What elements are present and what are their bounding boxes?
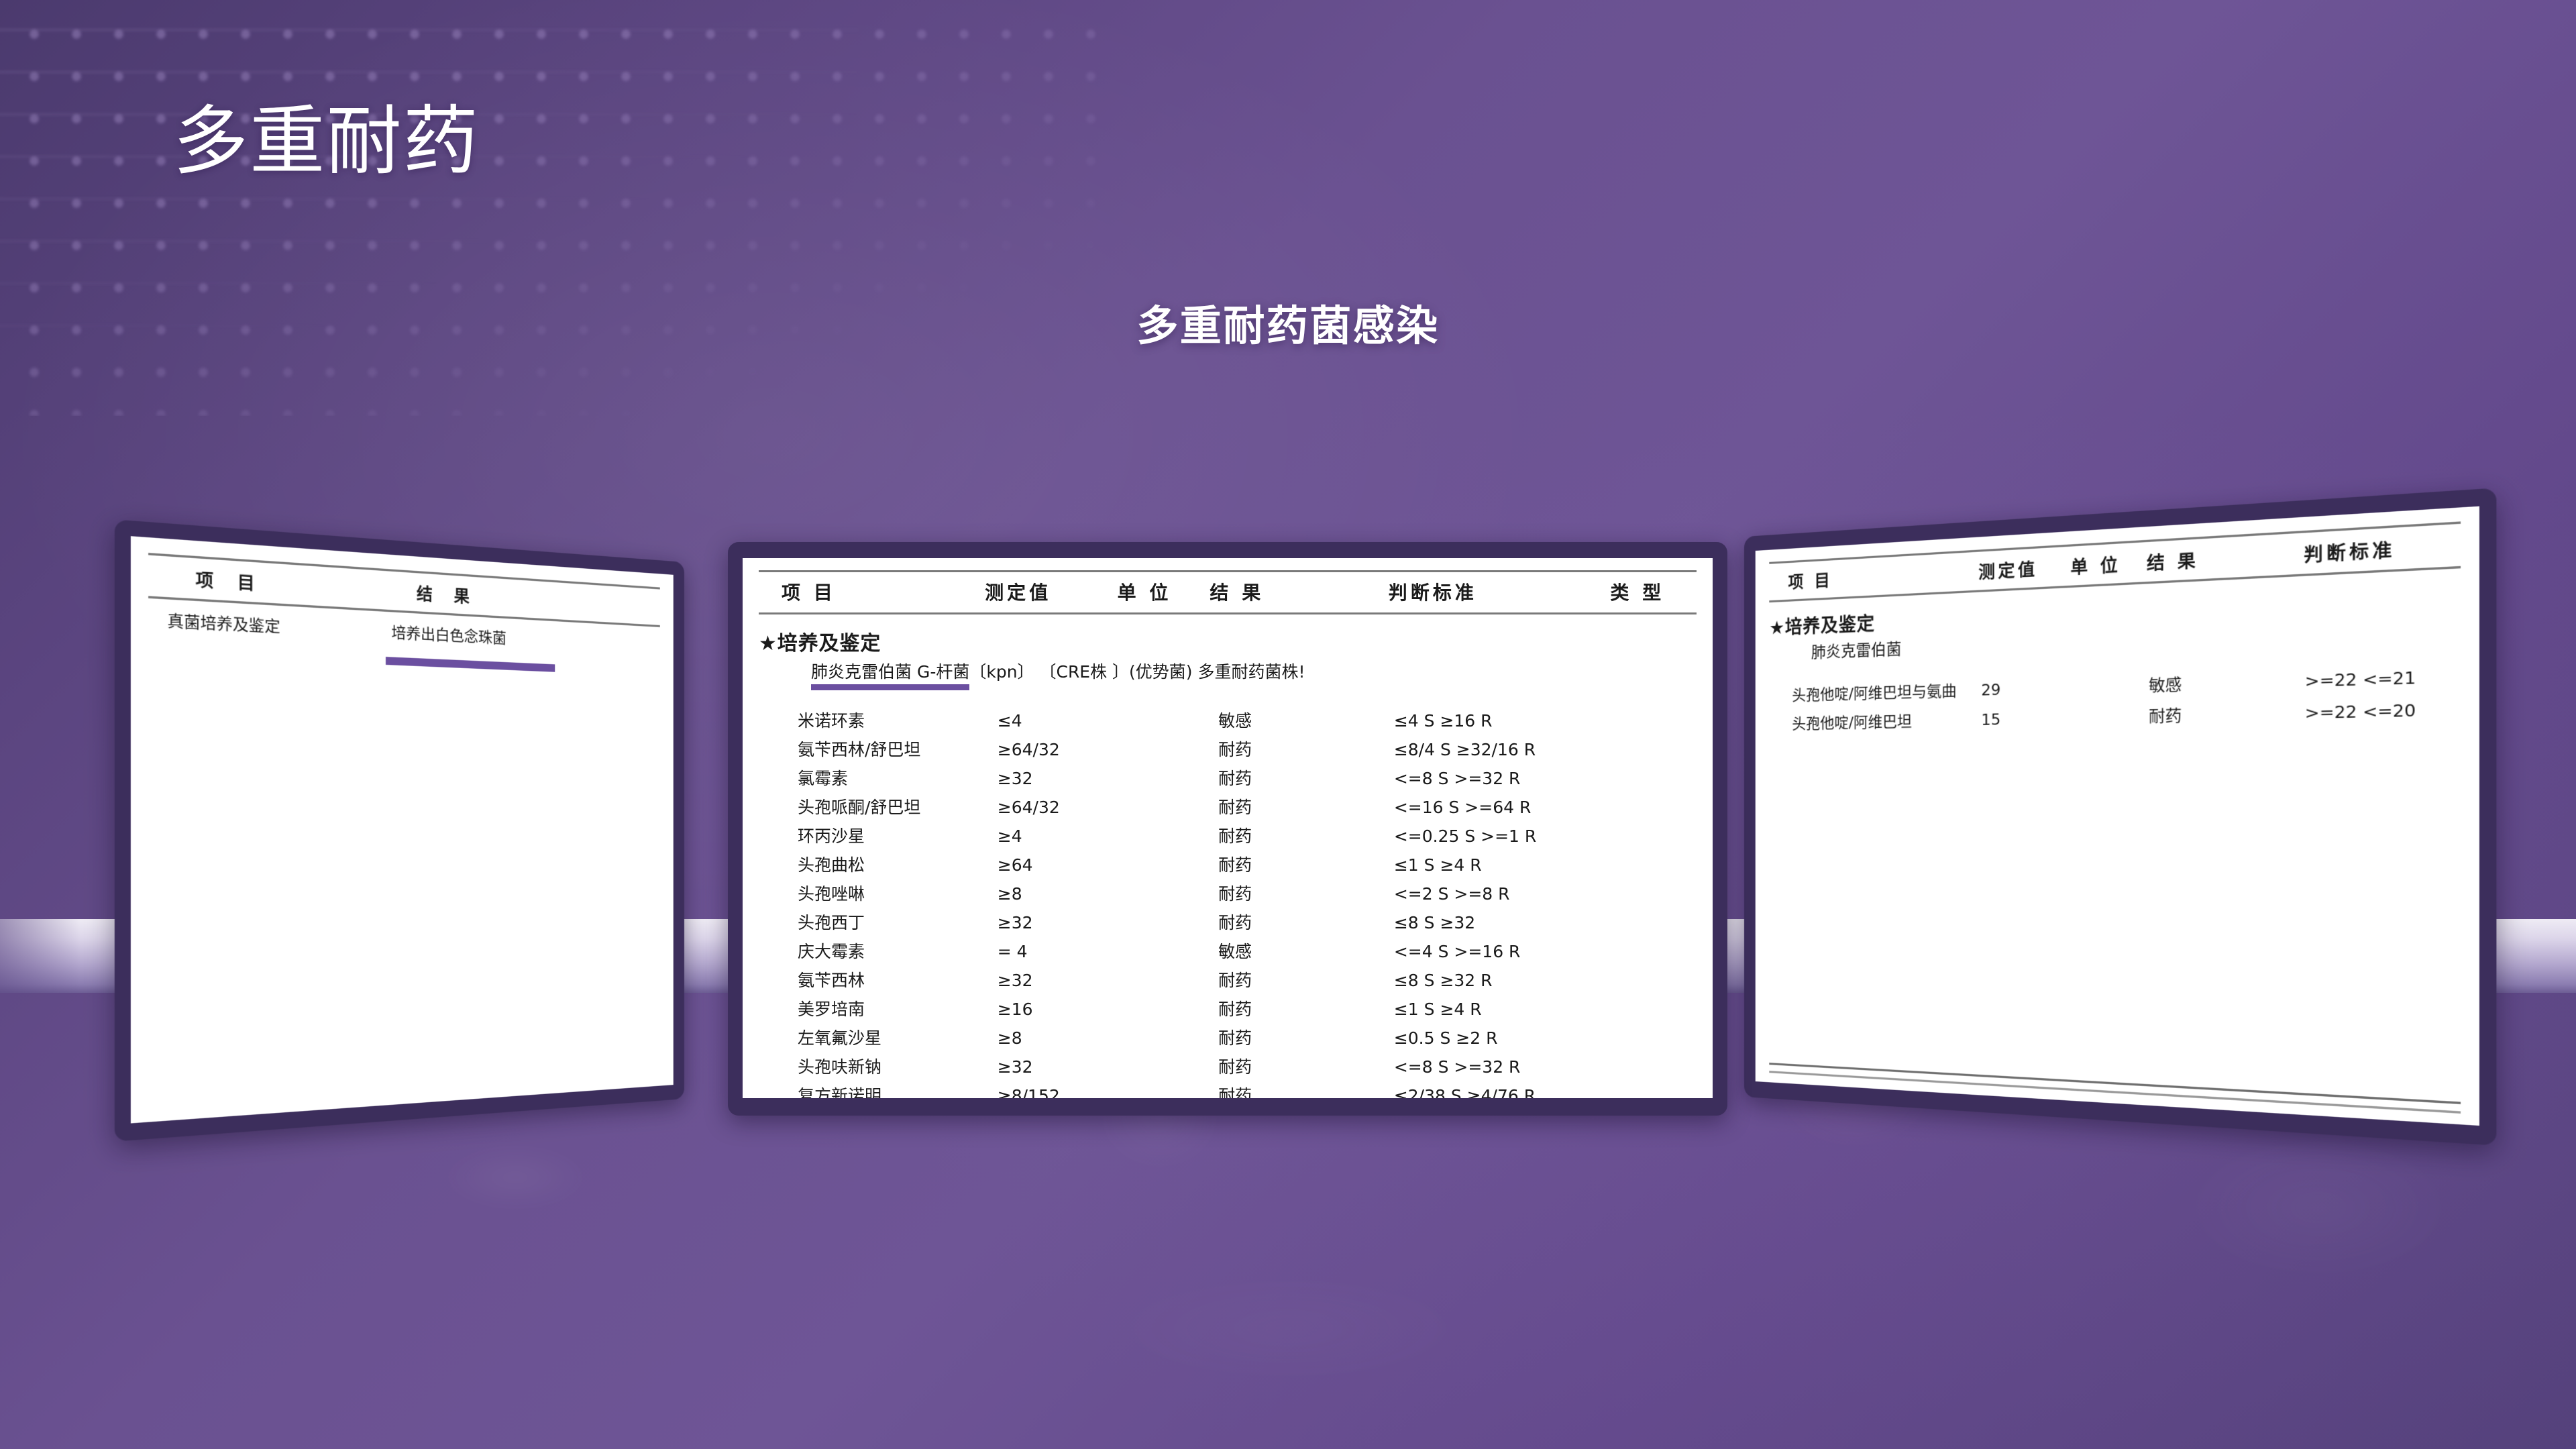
cell-criteria: <=8 S >=32 R [1394,1057,1612,1077]
cell-criteria: ≤8/4 S ≥32/16 R [1394,740,1612,759]
table-row: 氯霉素≥32耐药<=8 S >=32 R [798,765,1697,794]
cell-criteria: ≤1 S ≥4 R [1394,855,1612,875]
column-header-item: 项 目 [782,578,985,605]
slide-canvas: 多重耐药 多重耐药菌感染 项 目 结 果 真菌培养及鉴定培养出白色念珠菌 项 目… [0,0,2576,1449]
column-header-value: 测定值 [985,578,1117,605]
table-row: 米诺环素≤4敏感≤4 S ≥16 R [798,708,1697,737]
cell-result: 耐药 [1218,852,1394,876]
report-sheet-center: 项 目 测定值 单 位 结 果 判断标准 类 型 ★培养及鉴定 肺炎克雷伯菌 G… [743,558,1713,1098]
cell-item: 真菌培养及鉴定 [168,608,392,643]
cell-value: ≥64 [998,855,1128,875]
table-header-row-center: 项 目 测定值 单 位 结 果 判断标准 类 型 [759,570,1697,614]
column-header-value: 测定值 [1978,553,2070,583]
cell-result: 耐药 [1218,1083,1394,1098]
cell-value: ≥32 [998,1057,1128,1077]
cell-criteria: <=4 S >=16 R [1394,942,1612,961]
cell-value: ≥8 [998,1028,1128,1048]
cell-value: ≥4 [998,826,1128,846]
cell-result: 耐药 [1218,1054,1394,1078]
cell-item: 头孢哌酮/舒巴坦 [798,794,998,818]
cell-criteria: >=22 <=21 [2305,667,2461,691]
cell-unit [2073,691,2149,693]
column-header-type: 类 型 [1610,578,1697,605]
cell-item: 头孢曲松 [798,852,998,876]
cell-value: ≥32 [998,913,1128,932]
cell-item: 头孢唑啉 [798,881,998,905]
cell-unit [2073,722,2149,723]
table-body-center: 米诺环素≤4敏感≤4 S ≥16 R氨苄西林/舒巴坦≥64/32耐药≤8/4 S… [759,708,1697,1098]
cell-criteria: ≤1 S ≥4 R [1394,1000,1612,1019]
section-title-culture: ★培养及鉴定 [759,627,1697,656]
cell-item: 氨苄西林 [798,967,998,991]
sheet-footer-rule [1769,1063,2461,1104]
cell-criteria: ≤0.5 S ≥2 R [1394,1028,1612,1048]
background-band-fade [0,919,80,993]
cell-result: 培养出白色念珠菌 [391,621,617,653]
cell-value: ≥8 [998,884,1128,904]
column-header-result: 结 果 [2147,540,2304,575]
cell-item: 氨苄西林/舒巴坦 [798,737,998,761]
cell-item: 头孢他啶/阿维巴坦 [1792,708,1981,734]
cell-value: ≥16 [998,1000,1128,1019]
cell-result: 耐药 [1218,737,1394,761]
cell-result: 耐药 [1218,967,1394,991]
cell-value: ≥64/32 [998,798,1128,817]
cell-result: 敏感 [1218,708,1394,732]
cell-criteria: <=8 S >=32 R [1394,769,1612,788]
table-row: 复方新诺明≥8/152耐药≤2/38 S ≥4/76 R [798,1083,1697,1098]
cell-result: 敏感 [1218,938,1394,963]
cell-item: 复方新诺明 [798,1083,998,1098]
cell-item: 庆大霉素 [798,938,998,963]
column-header-result: 结 果 [1210,578,1388,605]
table-row: 美罗培南≥16耐药≤1 S ≥4 R [798,996,1697,1025]
cell-item: 氯霉素 [798,765,998,790]
column-header-item: 项 目 [1788,558,1979,592]
cell-value: ≥8/152 [998,1086,1128,1098]
table-body-right: 头孢他啶/阿维巴坦与氨曲29敏感>=22 <=21头孢他啶/阿维巴坦15耐药>=… [1769,663,2461,741]
organism-annotation: 〔kpn〕 〔CRE株 〕(优势菌) 多重耐药菌株! [969,662,1305,682]
sheet-footer-rule-secondary [1769,1071,2461,1114]
cell-value: ≥32 [998,971,1128,990]
cell-criteria: <=16 S >=64 R [1394,798,1612,817]
table-row: 氨苄西林/舒巴坦≥64/32耐药≤8/4 S ≥32/16 R [798,737,1697,765]
cell-result: 耐药 [1218,823,1394,847]
organism-name: 肺炎克雷伯菌 G-杆菌 [811,659,969,690]
table-row: 头孢唑啉≥8耐药<=2 S >=8 R [798,881,1697,910]
cell-item: 米诺环素 [798,708,998,732]
cell-criteria: ≤4 S ≥16 R [1394,711,1612,731]
organism-line-center: 肺炎克雷伯菌 G-杆菌〔kpn〕 〔CRE株 〕(优势菌) 多重耐药菌株! [811,659,1697,690]
table-row: 环丙沙星≥4耐药<=0.25 S >=1 R [798,823,1697,852]
report-panel-center[interactable]: 项 目 测定值 单 位 结 果 判断标准 类 型 ★培养及鉴定 肺炎克雷伯菌 G… [728,542,1727,1116]
cell-item: 左氧氟沙星 [798,1025,998,1049]
column-header-item: 项 目 [196,565,417,604]
table-row: 头孢哌酮/舒巴坦≥64/32耐药<=16 S >=64 R [798,794,1697,823]
cell-result: 耐药 [1218,1025,1394,1049]
report-panel-right[interactable]: 项 目 测定值 单 位 结 果 判断标准 ★培养及鉴定 肺炎克雷伯菌 头孢他啶/… [1744,488,2496,1146]
cell-criteria: <=2 S >=8 R [1394,884,1612,904]
cell-criteria: ≤8 S ≥32 [1394,913,1612,932]
cell-criteria: >=22 <=20 [2305,700,2461,723]
table-row: 庆大霉素= 4敏感<=4 S >=16 R [798,938,1697,967]
column-header-criteria: 判断标准 [1389,578,1611,605]
cell-criteria: ≤8 S ≥32 R [1394,971,1612,990]
cell-result: 耐药 [1218,881,1394,905]
cell-result: 耐药 [1218,794,1394,818]
cell-result: 耐药 [1218,910,1394,934]
report-paper-center: 项 目 测定值 单 位 结 果 判断标准 类 型 ★培养及鉴定 肺炎克雷伯菌 G… [743,558,1713,1098]
cell-result: 耐药 [2149,700,2305,727]
table-row: 头孢西丁≥32耐药≤8 S ≥32 [798,910,1697,938]
cell-result: 耐药 [1218,765,1394,790]
highlight-underline-mark [386,657,555,672]
cell-item: 头孢呋新钠 [798,1054,998,1078]
report-sheet-left: 项 目 结 果 真菌培养及鉴定培养出白色念珠菌 [131,536,674,1123]
table-row: 头孢呋新钠≥32耐药<=8 S >=32 R [798,1054,1697,1083]
cell-value: 15 [1981,710,2072,730]
cell-criteria: ≤2/38 S ≥4/76 R [1394,1086,1612,1098]
cell-value: = 4 [998,942,1128,961]
cell-value: ≥32 [998,769,1128,788]
column-header-result: 结 果 [417,580,640,617]
table-row: 左氧氟沙星≥8耐药≤0.5 S ≥2 R [798,1025,1697,1054]
cell-result: 耐药 [1218,996,1394,1020]
cell-item: 环丙沙星 [798,823,998,847]
cell-result: 敏感 [2149,667,2305,696]
cell-item: 美罗培南 [798,996,998,1020]
slide-subtitle: 多重耐药菌感染 [0,292,2576,352]
column-header-unit: 单 位 [1118,578,1210,605]
cell-criteria: <=0.25 S >=1 R [1394,826,1612,846]
cell-value: ≥64/32 [998,740,1128,759]
report-paper-right: 项 目 测定值 单 位 结 果 判断标准 ★培养及鉴定 肺炎克雷伯菌 头孢他啶/… [1756,506,2479,1126]
column-header-unit: 单 位 [2070,549,2147,578]
report-sheet-right: 项 目 测定值 单 位 结 果 判断标准 ★培养及鉴定 肺炎克雷伯菌 头孢他啶/… [1756,506,2479,1126]
cell-item: 头孢西丁 [798,910,998,934]
cell-value: 29 [1981,679,2072,699]
page-title: 多重耐药 [173,80,480,189]
table-row: 氨苄西林≥32耐药≤8 S ≥32 R [798,967,1697,996]
cell-value: ≤4 [998,711,1128,731]
cell-item: 头孢他啶/阿维巴坦与氨曲 [1792,678,1981,705]
report-panel-left[interactable]: 项 目 结 果 真菌培养及鉴定培养出白色念珠菌 [115,519,684,1141]
column-header-criteria: 判断标准 [2304,531,2461,566]
table-row: 头孢曲松≥64耐药≤1 S ≥4 R [798,852,1697,881]
report-paper-left: 项 目 结 果 真菌培养及鉴定培养出白色念珠菌 [131,536,674,1123]
